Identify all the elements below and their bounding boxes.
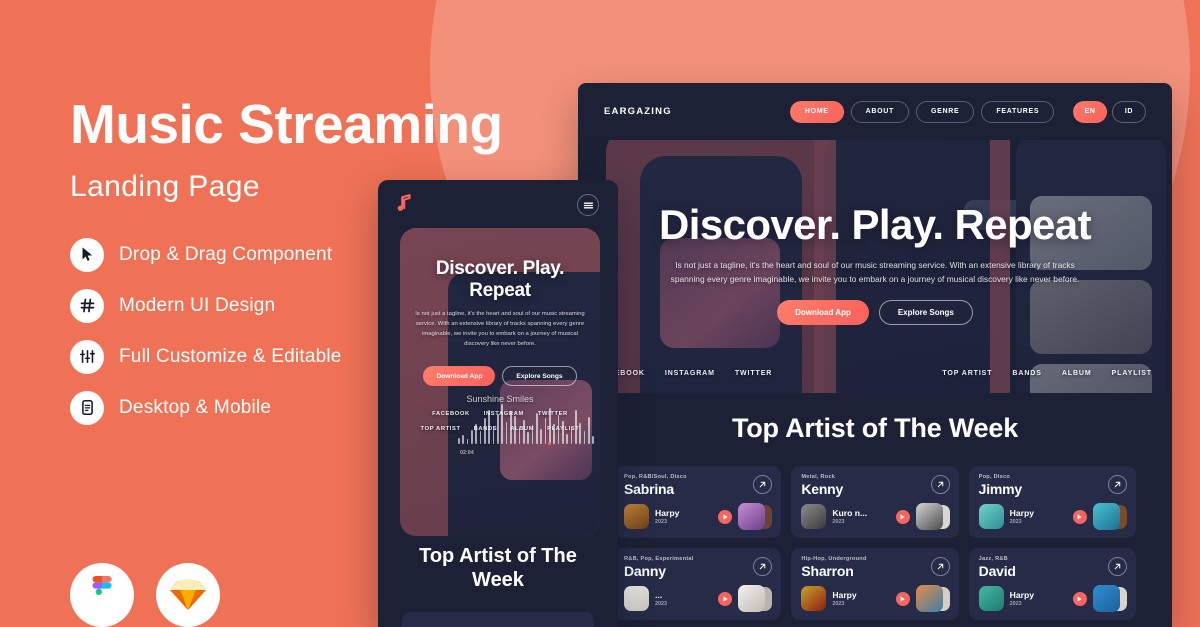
artist-genre: R&B, Pop, Experimental — [624, 556, 772, 562]
waveform-bar — [584, 431, 586, 444]
artist-name: Sabrina — [624, 481, 772, 497]
hero-description: Is not just a tagline, it's the heart an… — [660, 259, 1090, 286]
waveform-bar — [467, 439, 469, 444]
track-year: 2023 — [1010, 601, 1067, 607]
hashtag-icon — [70, 289, 104, 323]
page-title: Music Streaming — [70, 96, 470, 154]
track-thumbnail — [979, 504, 1004, 529]
waveform-bar — [458, 438, 460, 444]
mobile-hero-card: Discover. Play. Repeat Is not just a tag… — [400, 228, 600, 536]
tab-top-artist[interactable]: TOP ARTIST — [421, 426, 461, 432]
play-icon[interactable] — [1073, 592, 1087, 606]
album-art-front — [916, 585, 943, 612]
album-art-front — [1093, 585, 1120, 612]
mobile-icon — [70, 391, 104, 425]
artist-genre: Hip-Hop, Underground — [801, 556, 949, 562]
artist-name: Sharron — [801, 563, 949, 579]
track-meta: Harpy 2023 — [832, 590, 889, 607]
album-art-front — [738, 503, 765, 530]
mobile-artist-card-peek[interactable] — [402, 612, 594, 627]
nav-item-home[interactable]: HOME — [790, 101, 844, 123]
album-art-front — [1093, 503, 1120, 530]
waveform-bar — [471, 430, 473, 444]
track-name: Kuro n... — [832, 508, 889, 518]
language-toggle: EN ID — [1073, 101, 1146, 123]
arrow-icon[interactable] — [931, 557, 950, 576]
tab-top-artist[interactable]: TOP ARTIST — [942, 370, 992, 377]
waveform-bar — [462, 435, 464, 444]
artist-card-grid: Pop, R&B/Soul, Disco Sabrina Harpy 2023 — [578, 444, 1172, 620]
track-row: Kuro n... 2023 — [801, 503, 949, 530]
artist-genre: Pop, Disco — [979, 474, 1127, 480]
waveform-bar — [575, 410, 577, 444]
track-name: Harpy — [1010, 590, 1067, 600]
waveform-bar — [571, 427, 573, 444]
waveform-bar — [562, 421, 564, 444]
track-name: Harpy — [655, 508, 712, 518]
mobile-hero-description: Is not just a tagline, it's the heart an… — [414, 310, 586, 349]
feature-label: Drop & Drag Component — [119, 244, 332, 266]
album-art-stack — [738, 503, 772, 530]
nav-item-genre[interactable]: GENRE — [916, 101, 974, 123]
brand-logo[interactable]: EARGAZING — [604, 106, 672, 117]
waveform-bar — [566, 434, 568, 444]
play-icon[interactable] — [718, 592, 732, 606]
play-icon[interactable] — [896, 592, 910, 606]
track-thumbnail — [801, 504, 826, 529]
track-row: ... 2023 — [624, 585, 772, 612]
waveform-bar — [493, 426, 495, 444]
playback-time: 02:04 — [460, 450, 474, 456]
feature-label: Full Customize & Editable — [119, 346, 342, 368]
waveform-position-dot — [548, 442, 551, 445]
waveform-bar — [519, 428, 521, 444]
artist-card[interactable]: Pop, R&B/Soul, Disco Sabrina Harpy 2023 — [614, 466, 781, 538]
waveform-bar — [592, 436, 594, 444]
section-title: Top Artist of The Week — [578, 393, 1172, 444]
waveform-bar — [527, 432, 529, 444]
album-art-stack — [738, 585, 772, 612]
track-year: 2023 — [655, 519, 712, 525]
album-art-stack — [916, 503, 950, 530]
sliders-icon — [70, 340, 104, 374]
mobile-hero-title: Discover. Play. Repeat — [414, 258, 586, 301]
hero-cta-group: Download App Explore Songs — [622, 300, 1128, 325]
track-name: Harpy — [832, 590, 889, 600]
track-year: 2023 — [832, 601, 889, 607]
tab-playlist[interactable]: PLAYLIST — [1112, 370, 1152, 377]
album-art-front — [916, 503, 943, 530]
waveform-bar — [523, 420, 525, 444]
waveform-bar — [506, 422, 508, 444]
mobile-download-app-button[interactable]: Download App — [423, 366, 495, 386]
artist-genre: Metal, Rock — [801, 474, 949, 480]
track-thumbnail — [624, 504, 649, 529]
artist-name: Kenny — [801, 481, 949, 497]
artist-name: Danny — [624, 563, 772, 579]
waveform-bar — [514, 416, 516, 444]
track-row: Harpy 2023 — [979, 503, 1127, 530]
desktop-topbar: EARGAZING HOME ABOUT GENRE FEATURES EN I… — [578, 83, 1172, 140]
waveform-bar — [579, 423, 581, 444]
play-icon[interactable] — [1073, 510, 1087, 524]
social-link-twitter[interactable]: TWITTER — [735, 370, 772, 377]
track-thumbnail — [801, 586, 826, 611]
track-meta: Harpy 2023 — [1010, 590, 1067, 607]
feature-label: Desktop & Mobile — [119, 397, 271, 419]
waveform-bar — [588, 417, 590, 444]
main-nav: HOME ABOUT GENRE FEATURES — [790, 101, 1054, 123]
track-name: Harpy — [1010, 508, 1067, 518]
track-meta: ... 2023 — [655, 590, 712, 607]
waveform-bar — [558, 415, 560, 444]
feature-label: Modern UI Design — [119, 295, 275, 317]
audio-waveform[interactable] — [458, 402, 594, 444]
track-thumbnail — [979, 586, 1004, 611]
cursor-icon — [70, 238, 104, 272]
sketch-logo: Sketch — [156, 563, 220, 627]
track-meta: Harpy 2023 — [655, 508, 712, 525]
figma-logo: Figma — [70, 563, 134, 627]
track-meta: Kuro n... 2023 — [832, 508, 889, 525]
mobile-mockup: Discover. Play. Repeat Is not just a tag… — [378, 180, 618, 627]
artist-name: Jimmy — [979, 481, 1127, 497]
track-row: Harpy 2023 — [624, 503, 772, 530]
social-link-instagram[interactable]: INSTAGRAM — [665, 370, 715, 377]
nav-item-features[interactable]: FEATURES — [981, 101, 1054, 123]
waveform-bar — [510, 411, 512, 444]
artist-card[interactable]: Jazz, R&B David Harpy 2023 — [969, 548, 1136, 620]
mobile-topbar — [378, 180, 618, 230]
download-app-button[interactable]: Download App — [777, 300, 869, 325]
artist-card[interactable]: Pop, Disco Jimmy Harpy 2023 — [969, 466, 1136, 538]
tab-bands[interactable]: BANDS — [1012, 370, 1041, 377]
mobile-explore-songs-button[interactable]: Explore Songs — [502, 366, 576, 386]
explore-songs-button[interactable]: Explore Songs — [879, 300, 973, 325]
track-year: 2023 — [655, 601, 712, 607]
social-links: FACEBOOK INSTAGRAM TWITTER — [598, 370, 772, 377]
top-artist-section: Top Artist of The Week Pop, R&B/Soul, Di… — [578, 393, 1172, 627]
track-row: Harpy 2023 — [801, 585, 949, 612]
track-thumbnail — [624, 586, 649, 611]
waveform-bar — [536, 413, 538, 444]
album-art-front — [738, 585, 765, 612]
waveform-bar — [549, 408, 551, 444]
play-icon[interactable] — [896, 510, 910, 524]
language-option-en[interactable]: EN — [1073, 101, 1107, 123]
hero-content: Discover. Play. Repeat Is not just a tag… — [578, 201, 1172, 325]
hero-title: Discover. Play. Repeat — [622, 201, 1128, 249]
album-art-stack — [916, 585, 950, 612]
track-name: ... — [655, 590, 712, 600]
play-icon[interactable] — [718, 510, 732, 524]
arrow-icon[interactable] — [1108, 557, 1127, 576]
arrow-icon[interactable] — [1108, 475, 1127, 494]
hero-strip: FACEBOOK INSTAGRAM TWITTER TOP ARTIST BA… — [578, 360, 1172, 386]
album-art-stack — [1093, 585, 1127, 612]
desktop-mockup: EARGAZING HOME ABOUT GENRE FEATURES EN I… — [578, 83, 1172, 627]
language-option-id[interactable]: ID — [1112, 101, 1146, 123]
waveform-bar — [540, 429, 542, 444]
artist-genre: Pop, R&B/Soul, Disco — [624, 474, 772, 480]
music-note-icon[interactable] — [397, 194, 411, 217]
track-year: 2023 — [832, 519, 889, 525]
mobile-cta-group: Download App Explore Songs — [414, 366, 586, 386]
track-year: 2023 — [1010, 519, 1067, 525]
waveform-bar — [475, 424, 477, 444]
nav-item-about[interactable]: ABOUT — [851, 101, 909, 123]
waveform-bar — [488, 410, 490, 444]
waveform-bar — [484, 418, 486, 444]
waveform-bar — [532, 425, 534, 444]
mobile-section-title: Top Artist of The Week — [378, 545, 618, 592]
tool-logos: Figma Sketch — [70, 563, 220, 627]
waveform-bar — [497, 414, 499, 444]
track-row: Harpy 2023 — [979, 585, 1127, 612]
tab-album[interactable]: ALBUM — [1062, 370, 1092, 377]
category-tabs: TOP ARTIST BANDS ALBUM PLAYLIST — [942, 370, 1152, 377]
track-meta: Harpy 2023 — [1010, 508, 1067, 525]
waveform-bar — [553, 424, 555, 444]
album-art-stack — [1093, 503, 1127, 530]
artist-card[interactable]: R&B, Pop, Experimental Danny ... 2023 — [614, 548, 781, 620]
waveform-bar — [501, 404, 503, 444]
hamburger-icon[interactable] — [577, 194, 599, 216]
artist-name: David — [979, 563, 1127, 579]
artist-genre: Jazz, R&B — [979, 556, 1127, 562]
artist-card[interactable]: Metal, Rock Kenny Kuro n... 2023 — [791, 466, 958, 538]
artist-card[interactable]: Hip-Hop, Underground Sharron Harpy 2023 — [791, 548, 958, 620]
arrow-icon[interactable] — [931, 475, 950, 494]
waveform-bar — [545, 418, 547, 444]
waveform-bar — [480, 431, 482, 444]
